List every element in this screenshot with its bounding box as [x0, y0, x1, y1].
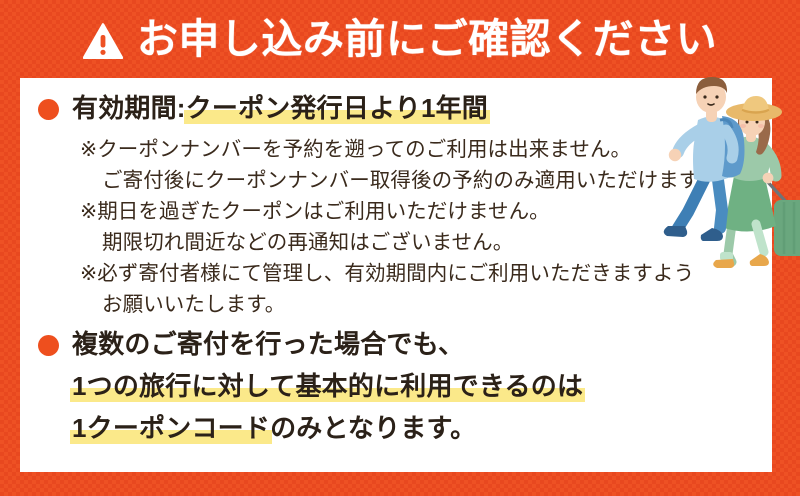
- section-2-heading-row: 複数のご寄付を行った場合でも、: [38, 328, 464, 361]
- note-2-text-1: 期日を過ぎたクーポンはご利用いただけません。: [97, 200, 550, 223]
- note-3-text-1: 必ず寄付者様にて管理し、有効期間内にご利用いただきますよう: [97, 262, 694, 285]
- section-1-heading-highlight: クーポン発行日より1年間: [186, 92, 488, 125]
- warning-triangle-icon: [83, 23, 123, 59]
- bullet-dot-2: [38, 335, 59, 356]
- bullet-dot-1: [38, 99, 59, 120]
- note-2-line-2: 期限切れ間近などの再通知はございません。: [80, 228, 513, 259]
- card-body: 有効期間:クーポン発行日より1年間 ※クーポンナンバーを予約を遡ってのご利用は出…: [20, 78, 772, 472]
- section-2-line-2: 1つの旅行に対して基本的に利用できるのは: [72, 370, 583, 403]
- header: お申し込み前にご確認ください: [0, 0, 800, 78]
- note-1-text-2: ご寄付後にクーポンナンバー取得後の予約のみ適用いただけます。: [102, 169, 718, 192]
- note-3-line-1: ※必ず寄付者様にて管理し、有効期間内にご利用いただきますよう: [80, 259, 694, 290]
- section-1-heading-row: 有効期間:クーポン発行日より1年間: [38, 92, 488, 125]
- section-2-line-1: 複数のご寄付を行った場合でも、: [72, 328, 464, 361]
- note-2-line-1: ※期日を過ぎたクーポンはご利用いただけません。: [80, 197, 550, 228]
- section-2-line-3-plain: のみとなります。: [270, 413, 476, 443]
- page-title: お申し込み前にご確認ください: [137, 19, 717, 60]
- note-mark-1: ※: [80, 138, 97, 161]
- section-1-heading-plain: 有効期間:: [72, 93, 186, 123]
- section-2-line-3: 1クーポンコードのみとなります。: [72, 412, 476, 445]
- note-3-line-2: お願いいたします。: [80, 290, 285, 321]
- section-2-line-2-highlight: 1つの旅行に対して基本的に利用できるのは: [72, 370, 583, 403]
- note-1-line-2: ご寄付後にクーポンナンバー取得後の予約のみ適用いただけます。: [80, 166, 718, 197]
- section-1-heading: 有効期間:クーポン発行日より1年間: [72, 92, 488, 125]
- section-2-line-3-highlight: 1クーポンコード: [72, 412, 270, 445]
- note-3-text-2: お願いいたします。: [102, 293, 285, 316]
- note-1-text-1: クーポンナンバーを予約を遡ってのご利用は出来ません。: [97, 138, 631, 161]
- note-mark-2: ※: [80, 200, 97, 223]
- note-mark-3: ※: [80, 262, 97, 285]
- note-1-line-1: ※クーポンナンバーを予約を遡ってのご利用は出来ません。: [80, 135, 631, 166]
- note-2-text-2: 期限切れ間近などの再通知はございません。: [102, 231, 513, 254]
